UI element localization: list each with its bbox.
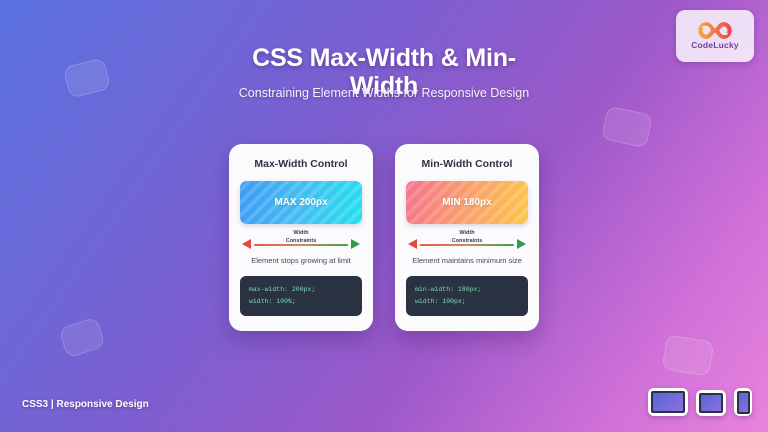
- device-icons-group: [648, 388, 752, 416]
- constraint-label: Width Constraints: [240, 230, 362, 246]
- code-line: max-width: 200px;: [249, 284, 353, 296]
- card-max-width[interactable]: Max-Width Control MAX 200px Width Constr…: [229, 144, 373, 331]
- tablet-icon-screen: [699, 393, 723, 413]
- slide-canvas: CodeLucky CSS Max-Width & Min-Width Cons…: [0, 0, 768, 432]
- infinity-icon: [698, 22, 732, 39]
- code-line: width: 100px;: [415, 296, 519, 308]
- slide-header: CSS Max-Width & Min-Width Constraining E…: [0, 44, 768, 100]
- cards-row: Max-Width Control MAX 200px Width Constr…: [0, 144, 768, 331]
- constraint-label-line1: Width: [240, 230, 362, 238]
- card-min-width[interactable]: Min-Width Control MIN 180px Width Constr…: [395, 144, 539, 331]
- page-subtitle: Constraining Element Widths for Responsi…: [0, 86, 768, 100]
- desktop-icon[interactable]: [648, 388, 688, 416]
- desktop-icon-screen: [651, 391, 685, 413]
- demo-box-max-width: MAX 200px: [240, 181, 362, 224]
- constraint-label-line2: Constraints: [406, 238, 528, 246]
- demo-box-min-width: MIN 180px: [406, 181, 528, 224]
- decorative-shape-2: [601, 106, 653, 149]
- constraint-label-line2: Constraints: [240, 238, 362, 246]
- decorative-shape-4: [662, 334, 715, 376]
- demo-box-label: MIN 180px: [442, 197, 491, 208]
- card-title: Min-Width Control: [406, 158, 528, 170]
- constraint-label-line1: Width: [406, 230, 528, 238]
- card-description: Element maintains minimum size: [406, 256, 528, 265]
- constraint-label: Width Constraints: [406, 230, 528, 246]
- width-constraint-indicator: Width Constraints: [406, 230, 528, 254]
- phone-icon-screen: [737, 391, 750, 414]
- code-block-min-width: min-width: 180px; width: 100px;: [406, 276, 528, 316]
- code-line: min-width: 180px;: [415, 284, 519, 296]
- footer-label: CSS3 | Responsive Design: [22, 399, 149, 410]
- demo-box-label: MAX 200px: [274, 197, 327, 208]
- tablet-icon[interactable]: [696, 390, 726, 416]
- code-block-max-width: max-width: 200px; width: 100%;: [240, 276, 362, 316]
- code-line: width: 100%;: [249, 296, 353, 308]
- width-constraint-indicator: Width Constraints: [240, 230, 362, 254]
- phone-icon[interactable]: [734, 388, 752, 416]
- card-description: Element stops growing at limit: [240, 256, 362, 265]
- card-title: Max-Width Control: [240, 158, 362, 170]
